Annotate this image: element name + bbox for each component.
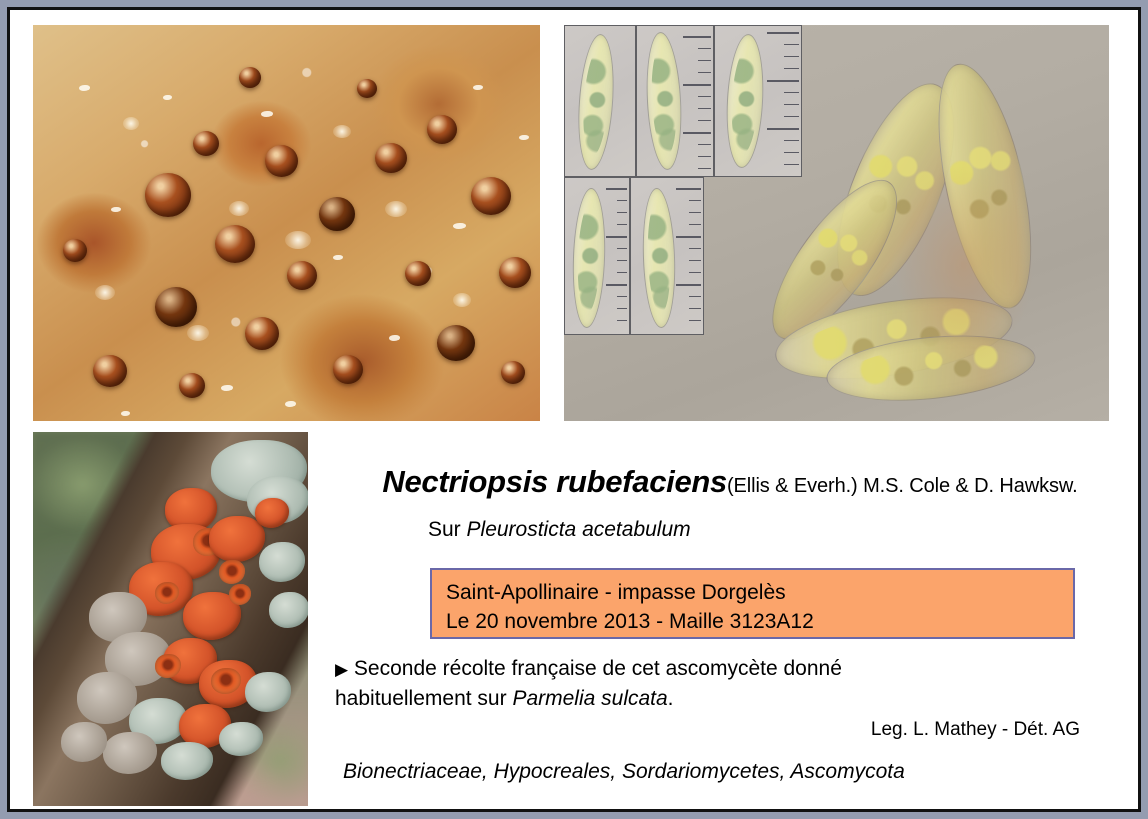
taxonomy-line: Bionectriaceae, Hypocreales, Sordariomyc… (343, 760, 905, 784)
note-species: Parmelia sulcata (512, 687, 667, 710)
locality-box: Saint-Apollinaire - impasse Dorgelès Le … (430, 568, 1075, 639)
attribution-line: Leg. L. Mathey - Dét. AG (610, 719, 1080, 741)
micrometer-scale (681, 32, 711, 172)
page-title: Nectriopsis rubefaciens(Ellis & Everh.) … (320, 464, 1140, 500)
macro-photo-perithecia (33, 25, 540, 421)
note-text-2-suffix: . (668, 687, 674, 710)
host-prefix: Sur (428, 518, 467, 541)
locality-line-2: Le 20 novembre 2013 - Maille 3123A12 (446, 607, 1073, 636)
species-name: Nectriopsis rubefaciens (382, 464, 727, 499)
text-block: Nectriopsis rubefaciens(Ellis & Everh.) … (310, 442, 1128, 801)
inset-panel-5 (630, 177, 704, 335)
inset-panel-3 (714, 25, 802, 177)
note-text-1: Seconde récolte française de cet ascomyc… (348, 657, 842, 680)
slide-frame: Nectriopsis rubefaciens(Ellis & Everh.) … (7, 7, 1141, 812)
slide-canvas: Nectriopsis rubefaciens(Ellis & Everh.) … (10, 10, 1138, 809)
triangle-marker-icon: ▶ (335, 660, 348, 679)
note-line-1: ▶ Seconde récolte française de cet ascom… (335, 654, 1055, 684)
inset-panel-4 (564, 177, 630, 335)
micrometer-scale (605, 186, 627, 332)
micrometer-scale (765, 30, 799, 172)
inset-panel-2 (636, 25, 714, 177)
inset-panel-1 (564, 25, 636, 177)
host-species: Pleurosticta acetabulum (467, 518, 691, 541)
note-text-2-prefix: habituellement sur (335, 687, 512, 710)
note-block: ▶ Seconde récolte française de cet ascom… (335, 654, 1055, 713)
micrometer-scale (675, 186, 701, 332)
locality-line-1: Saint-Apollinaire - impasse Dorgelès (446, 578, 1073, 607)
field-photo-lichen-branch (33, 432, 308, 806)
host-line: Sur Pleurosticta acetabulum (428, 518, 691, 542)
note-line-2: habituellement sur Parmelia sulcata. (335, 684, 1055, 713)
species-authority: (Ellis & Everh.) M.S. Cole & D. Hawksw. (727, 475, 1078, 497)
microscopy-asci-spores (564, 25, 1109, 421)
